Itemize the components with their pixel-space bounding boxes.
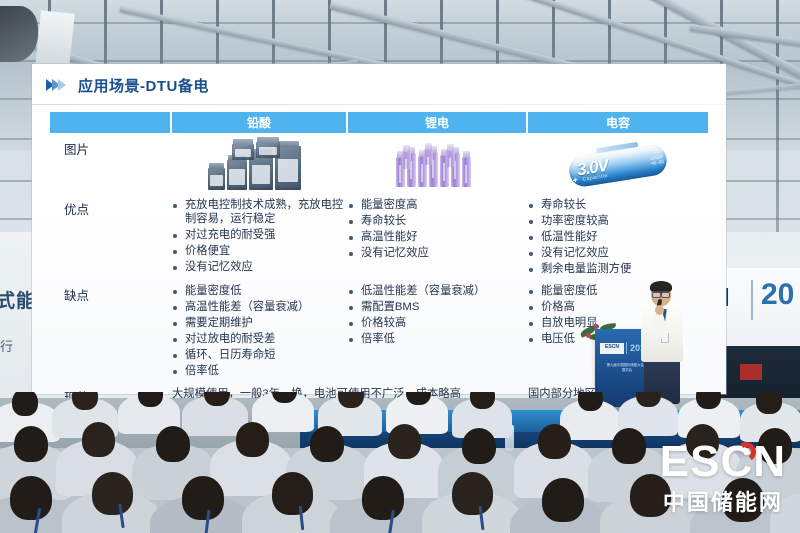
right-banner-divider [751,280,753,320]
cell-capacitor-image: 3.0V Capacitor 3.0V3000F-40~65 + [528,133,710,193]
list-item: 高温性能好 [348,231,528,245]
chevron-right-icon [58,79,66,91]
table-header-lead-acid: 铅酸 [172,112,348,133]
cell-lead-acid-image [172,133,348,193]
list-item: 没有记忆效应 [172,261,348,275]
list-item: 没有记忆效应 [348,247,528,261]
cell-lithium-disadvantages: 低温性能差（容量衰减） 需配置BMS 价格较高 倍率低 [348,279,528,381]
list-item: 能量密度低 [172,285,348,299]
row-label-image: 图片 [50,133,172,193]
table-header-lithium: 锂电 [348,112,528,133]
list-item: 倍率低 [172,365,348,379]
table-row-images: 图片 [50,133,710,193]
slide-title: 应用场景-DTU备电 [78,75,209,96]
podium-logo-plate: ESCN [600,343,624,354]
list-item: 需配置BMS [348,301,528,315]
speaker-presenter [638,283,688,403]
chevron-group [46,79,64,91]
list-item: 没有记忆效应 [528,247,710,261]
cell-lead-acid-disadvantages: 能量密度低 高温性能差（容量衰减） 需要定期维护 对过放电的耐受差 循环、日历寿… [172,279,348,381]
watermark-sub-text: 中国储能网 [660,485,786,517]
cell-lithium-image [348,133,528,193]
cell-lithium-advantages: 能量密度高 寿命较长 高温性能好 没有记忆效应 [348,193,528,279]
list-item: 对过放电的耐受差 [172,333,348,347]
table-row-advantages: 优点 充放电控制技术成熟，充放电控制容易，运行稳定 对过充电的耐受强 价格便宜 … [50,193,710,279]
cell-capacitor-advantages: 寿命较长 功率密度较高 低温性能好 没有记忆效应 剩余电量监测方便 [528,193,710,279]
slide-title-bar: 应用场景-DTU备电 [32,72,726,98]
podium-logo-text: ESCN [600,343,624,350]
table-header-capacitor: 电容 [528,112,710,133]
escn-watermark: ESCN 中国储能网 [660,440,786,517]
list-item: 价格较高 [348,317,528,331]
list-item: 寿命较长 [528,199,710,213]
conference-photo-scene: 式能 行 N 网 20 应用场景-DTU备电 铅酸 锂电 电容 [0,0,800,533]
cell-lead-acid-advantages: 充放电控制技术成熟，充放电控制容易，运行稳定 对过充电的耐受强 价格便宜 没有记… [172,193,348,279]
list-item: 高温性能差（容量衰减） [172,301,348,315]
right-banner-year: 20 [761,278,794,312]
title-divider [32,104,726,105]
list-item: 对过充电的耐受强 [172,229,348,243]
list-item: 价格便宜 [172,245,348,259]
glasses-icon [652,291,670,295]
list-item: 倍率低 [348,333,528,347]
list-item: 低温性能差（容量衰减） [348,285,528,299]
red-accent-block [740,364,762,380]
list-item: 充放电控制技术成熟，充放电控制容易，运行稳定 [172,199,348,226]
list-item: 剩余电量监测方便 [528,263,710,277]
lead-acid-battery-bank-icon [208,142,312,190]
watermark-main-text: ESCN [660,440,786,484]
list-item: 寿命较长 [348,215,528,229]
list-item: 需要定期维护 [172,317,348,331]
table-header-blank [50,112,172,133]
watermark-escn-label: ESCN [660,437,786,486]
list-item: 功率密度较高 [528,215,710,229]
list-item: 低温性能好 [528,231,710,245]
table-header-row: 铅酸 锂电 电容 [50,112,710,133]
supercap-spec-label: 3.0V3000F-40~65 [648,148,665,167]
row-label-disadvantages: 缺点 [50,279,172,381]
list-item: 循环、日历寿命短 [172,349,348,363]
lithium-cells-icon [392,143,484,189]
supercapacitor-icon: 3.0V Capacitor 3.0V3000F-40~65 + [562,136,676,196]
row-label-advantages: 优点 [50,193,172,279]
list-item: 能量密度高 [348,199,528,213]
